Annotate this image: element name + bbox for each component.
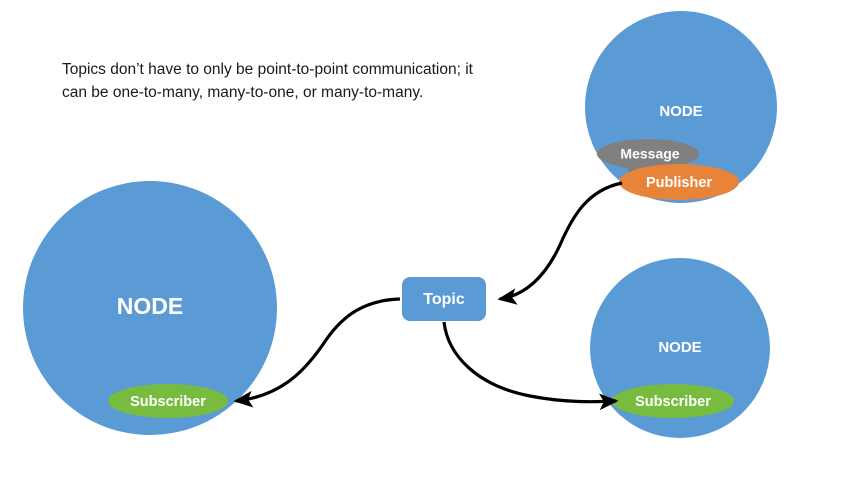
topic-label: Topic: [423, 291, 465, 308]
publisher-pill-label: Publisher: [646, 175, 712, 191]
diagram-canvas: Topics don’t have to only be point-to-po…: [0, 0, 854, 480]
subscriber-pill-label: Subscriber: [635, 394, 711, 410]
topic-box[interactable]: Topic: [402, 277, 486, 321]
subscriber-node-right[interactable]: NODE Subscriber: [590, 258, 770, 438]
subscriber-node-left[interactable]: NODE Subscriber: [23, 181, 277, 435]
node-label: NODE: [658, 339, 701, 356]
node-label: NODE: [117, 293, 183, 319]
arrow-topic-to-subscriber-right: [444, 322, 616, 402]
publisher-node[interactable]: NODE Message Publisher: [585, 11, 777, 203]
diagram-svg: NODE Subscriber NODE Message Publisher N…: [0, 0, 854, 480]
message-pill-label: Message: [620, 146, 679, 162]
arrow-publisher-to-topic: [500, 183, 622, 299]
subscriber-pill-label: Subscriber: [130, 394, 206, 410]
node-label: NODE: [659, 103, 702, 120]
